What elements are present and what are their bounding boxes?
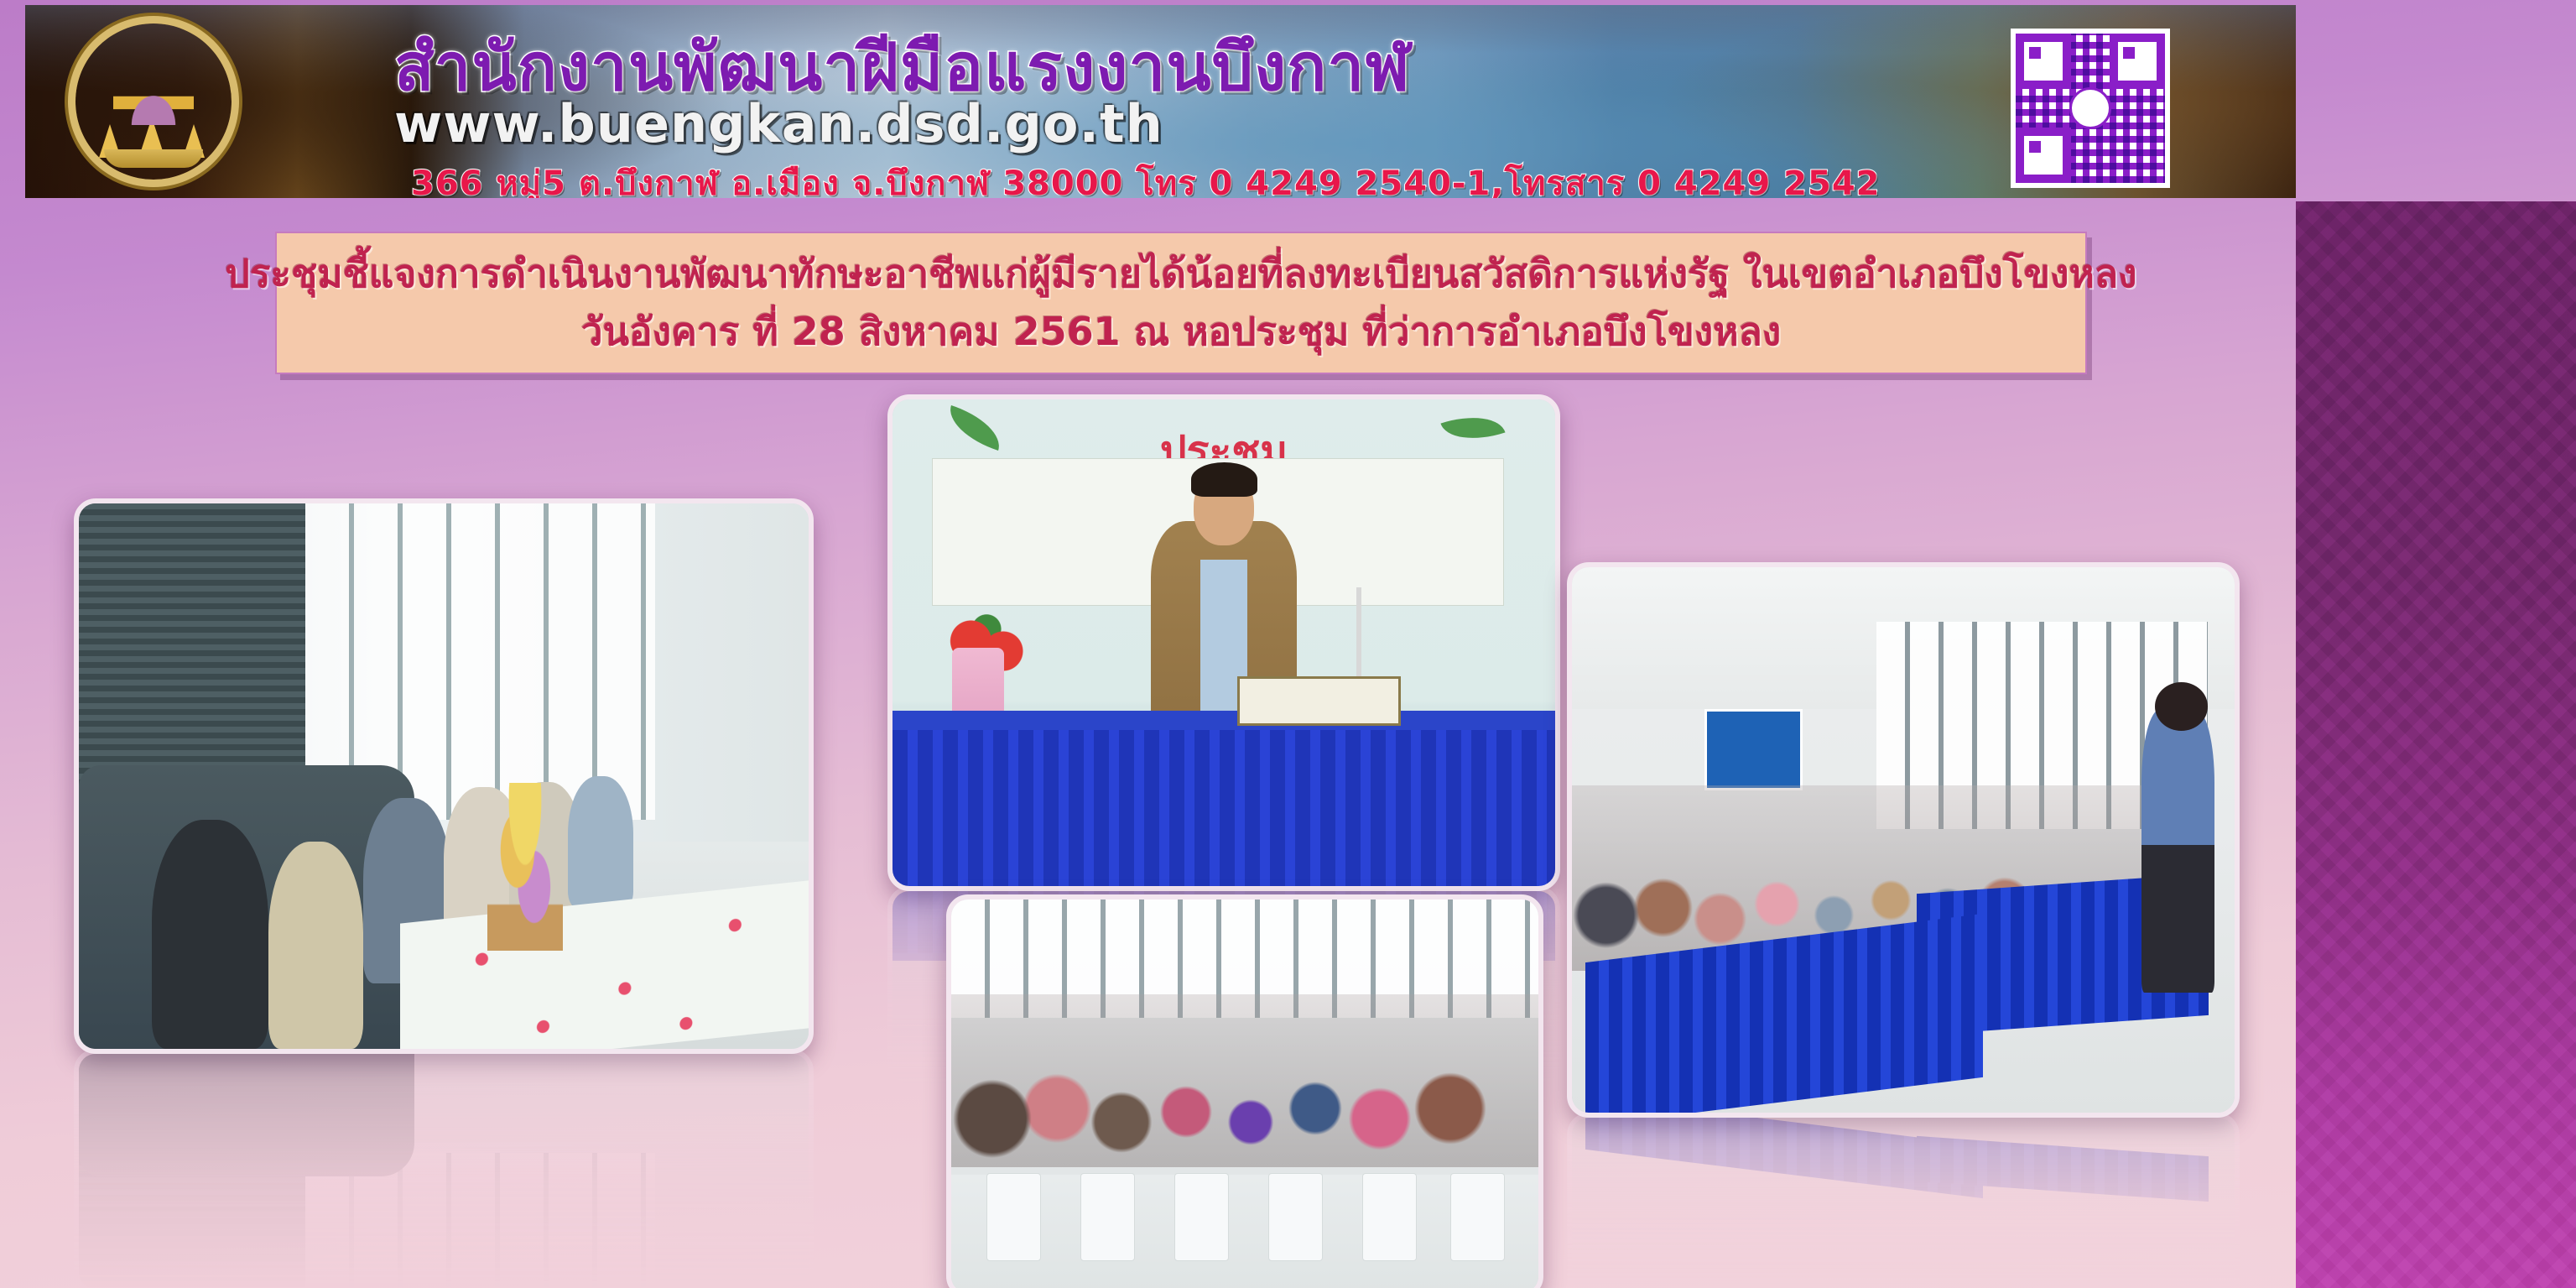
dsd-emblem-icon <box>75 23 232 180</box>
photo2-table-top <box>892 711 1555 730</box>
qr-eye-top-left <box>2016 34 2071 89</box>
banner-website-url: www.buengkan.dsd.go.th <box>394 93 1163 154</box>
qr-code-icon <box>2011 29 2170 188</box>
photo2-speaker-hair <box>1191 462 1257 497</box>
photo4-chair-4 <box>1268 1173 1323 1261</box>
photo1-person-6 <box>568 776 633 907</box>
banner-address-line: 366 หมู่5 ต.บึงกาฬ อ.เมือง จ.บึงกาฬ 3800… <box>411 156 1880 198</box>
photo-officials-seated[interactable] <box>74 498 814 1054</box>
photo3-standing-speaker <box>2141 709 2214 993</box>
photo4-scene <box>951 900 1538 1288</box>
photo-audience-hall-reflection <box>1567 1113 2240 1288</box>
photo3-blue-noticeboard <box>1704 709 1803 790</box>
qr-code-modules <box>2016 34 2165 183</box>
qr-center-logo <box>2069 87 2111 129</box>
photo-audience-hall[interactable] <box>1567 562 2240 1118</box>
photo2-blue-table-skirt <box>892 730 1555 886</box>
event-title-line-1: ประชุมชี้แจงการดำเนินงานพัฒนาทักษะอาชีพแ… <box>226 251 2137 297</box>
emblem-inner-figure <box>113 71 194 125</box>
qr-eye-bottom-left <box>2016 128 2071 183</box>
emblem-ribbon <box>104 149 203 168</box>
photo3-standing-speaker-head <box>2155 682 2208 732</box>
photo2-scene: ประชุม <box>892 399 1555 886</box>
photo3-scene <box>1572 567 2235 1113</box>
event-title-box: ประชุมชี้แจงการดำเนินงานพัฒนาทักษะอาชีพแ… <box>275 232 2087 374</box>
qr-eye-top-right <box>2110 34 2165 89</box>
photo1-scene <box>79 503 809 1049</box>
photo4-chair-1 <box>986 1173 1041 1261</box>
photo-audience-seated[interactable] <box>946 894 1543 1288</box>
event-title-line-2: วันอังคาร ที่ 28 สิงหาคม 2561 ณ หอประชุม… <box>581 309 1781 355</box>
slide-canvas: สำนักงานพัฒนาฝีมือแรงงานบึงกาฬ www.bueng… <box>0 0 2576 1288</box>
photo4-chair-5 <box>1362 1173 1417 1261</box>
right-decor-panel <box>2296 201 2576 1288</box>
photo1-person-1 <box>152 820 268 1049</box>
photo-speaker-at-table[interactable]: ประชุม <box>887 394 1560 891</box>
photo4-chair-3 <box>1174 1173 1229 1261</box>
photo2-name-plate <box>1237 676 1402 725</box>
photo-officials-seated-reflection <box>74 1049 814 1288</box>
header-banner: สำนักงานพัฒนาฝีมือแรงงานบึงกาฬ www.bueng… <box>25 5 2296 198</box>
photo1-person-2 <box>268 842 363 1049</box>
photo4-chair-2 <box>1080 1173 1135 1261</box>
photo4-audience <box>951 994 1538 1167</box>
photo4-chair-6 <box>1450 1173 1505 1261</box>
photo1-flower-vase <box>487 783 563 951</box>
